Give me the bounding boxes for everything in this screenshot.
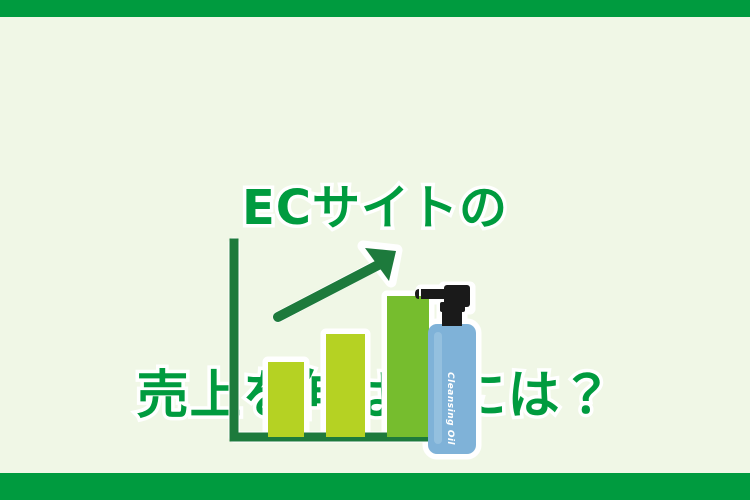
trend-arrow-icon bbox=[278, 248, 396, 317]
chart-bar-3 bbox=[387, 296, 429, 437]
chart-bar-1 bbox=[268, 362, 304, 437]
growth-chart-illustration bbox=[215, 228, 535, 463]
banner-canvas: ECサイトの 売上を伸ばすには？ bbox=[0, 0, 750, 500]
chart-bar-2 bbox=[326, 334, 365, 437]
top-frame-bar bbox=[0, 0, 750, 17]
